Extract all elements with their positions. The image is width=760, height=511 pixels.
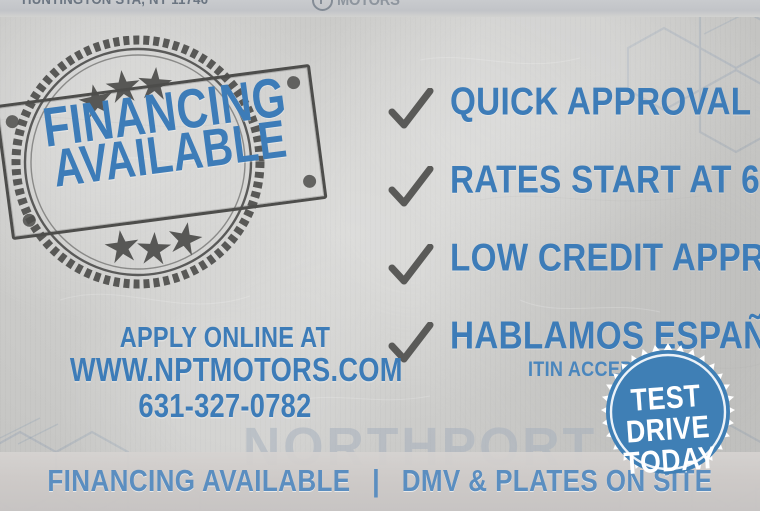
website-url[interactable]: WWW.NPTMOTORS.COM	[70, 353, 380, 390]
checklist-item-label: LOW CREDIT APPROVED	[450, 238, 760, 277]
apply-online-block: APPLY ONLINE AT WWW.NPTMOTORS.COM 631-32…	[60, 324, 390, 424]
starburst-badge-icon	[588, 342, 748, 502]
bottom-financing-text: FINANCING AVAILABLE	[47, 463, 350, 498]
dealer-address: HUNTINGTON STA, NY 11746	[22, 0, 208, 8]
checkmark-icon	[388, 88, 434, 134]
checklist-item: LOW CREDIT APPROVED	[388, 238, 760, 316]
flyer-canvas: HUNTINGTON STA, NY 11746 MOTORS	[0, 0, 760, 511]
checklist-item-label: QUICK APPROVAL	[450, 82, 751, 121]
checkmark-icon	[388, 244, 434, 290]
checkmark-icon	[388, 166, 434, 212]
financing-stamp: FINANCING AVAILABLE	[2, 28, 332, 296]
dealer-logo: MOTORS	[312, 0, 405, 11]
checklist-item-label: RATES START AT 6.2%	[450, 160, 760, 199]
apply-online-label: APPLY ONLINE AT	[70, 322, 380, 354]
bottom-separator: |	[362, 463, 390, 498]
test-drive-badge[interactable]: TEST DRIVE TODAY	[588, 342, 748, 502]
checklist-item: QUICK APPROVAL	[388, 82, 760, 160]
dealer-logo-text: MOTORS	[337, 0, 400, 10]
top-header-strip: HUNTINGTON STA, NY 11746 MOTORS	[0, 0, 760, 17]
crosshair-circle-icon	[312, 0, 333, 11]
checklist-item: RATES START AT 6.2%	[388, 160, 760, 238]
